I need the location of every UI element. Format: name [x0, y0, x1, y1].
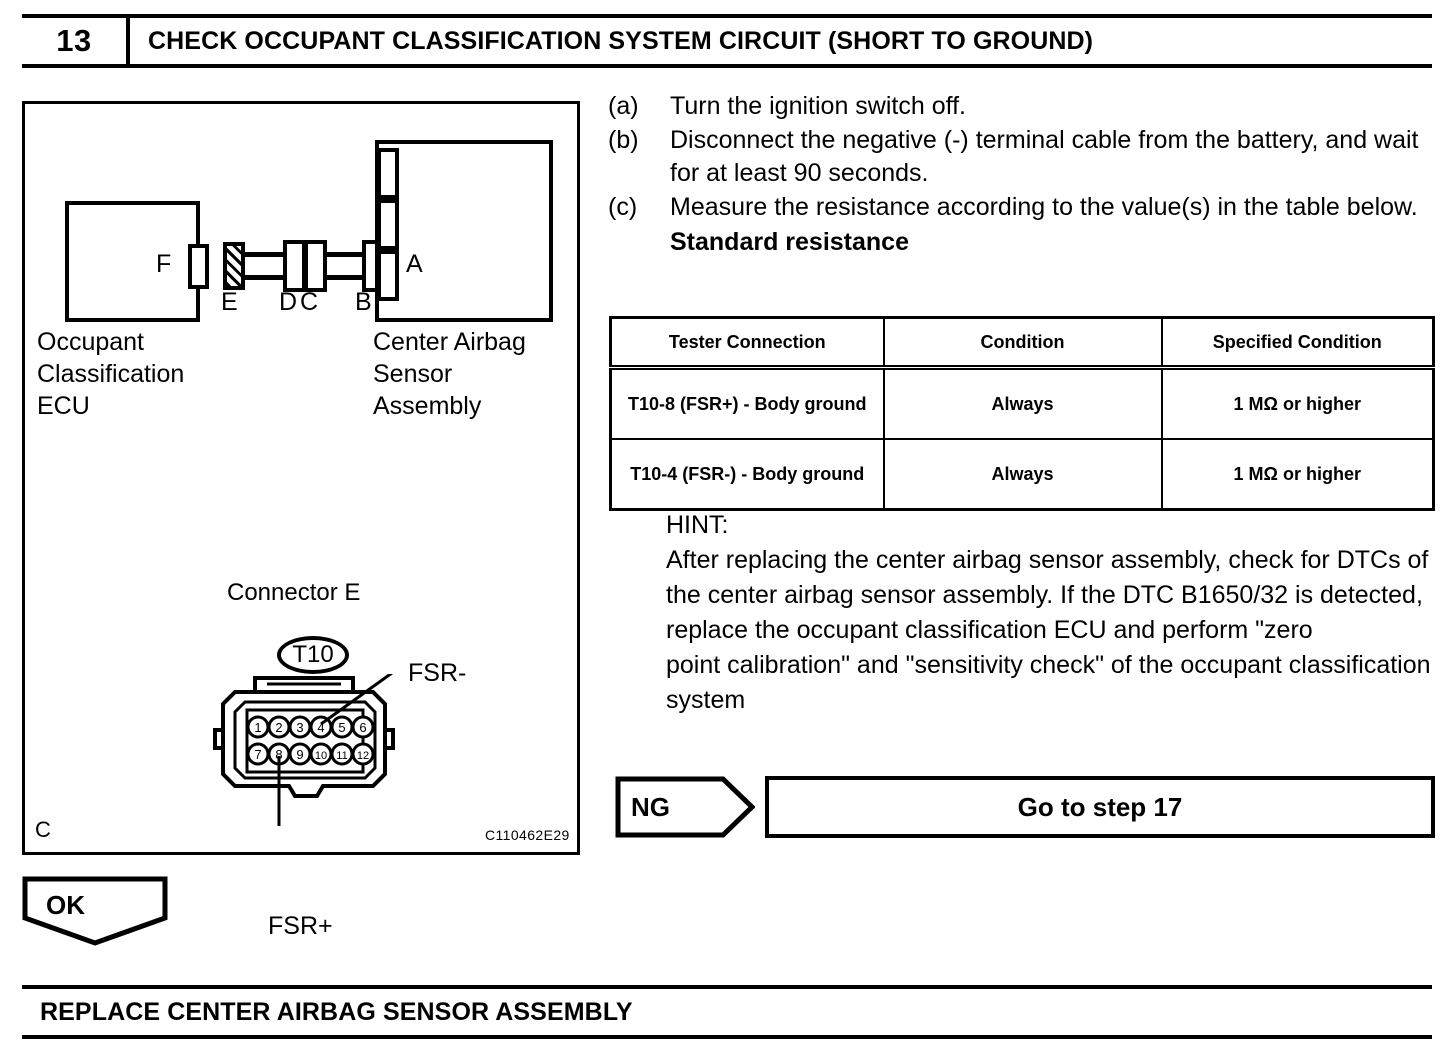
svg-text:10: 10 [315, 750, 327, 762]
pin-label-fsr-minus: FSR- [408, 659, 466, 688]
connector-e-pinout-illustration: 1 2 3 4 5 6 7 8 9 10 11 12 [195, 674, 445, 834]
svg-text:2: 2 [275, 720, 282, 735]
step-title: CHECK OCCUPANT CLASSIFICATION SYSTEM CIR… [130, 18, 1432, 64]
cell-tester-connection: T10-4 (FSR-) - Body ground [611, 439, 884, 510]
sensor-terminal-slot-1 [377, 148, 399, 199]
connector-e-title: Connector E [227, 579, 360, 607]
cell-condition: Always [884, 439, 1162, 510]
connector-e-label: E [221, 288, 238, 317]
instruction-text: Measure the resistance according to the … [670, 191, 1436, 224]
table-header-row: Tester Connection Condition Specified Co… [611, 318, 1434, 368]
column-header-specified-condition: Specified Condition [1162, 318, 1434, 368]
hint-label: HINT: [666, 508, 1436, 543]
svg-text:9: 9 [296, 747, 303, 762]
instruction-marker: (a) [608, 90, 670, 123]
svg-text:11: 11 [336, 750, 347, 762]
ng-result-row: NG Go to step 17 [615, 776, 1435, 838]
instruction-list: (a) Turn the ignition switch off. (b) Di… [608, 90, 1436, 259]
connector-c-symbol [304, 240, 327, 292]
cell-specified-condition: 1 MΩ or higher [1162, 368, 1434, 440]
hint-body: After replacing the center airbag sensor… [666, 543, 1436, 718]
ok-label: OK [46, 890, 85, 921]
svg-text:12: 12 [357, 750, 369, 762]
ecu-terminal-f [188, 244, 209, 289]
diagram-corner-letter: C [35, 817, 51, 843]
instruction-text: Turn the ignition switch off. [670, 90, 1436, 123]
ecu-caption: Occupant Classification ECU [37, 326, 184, 422]
cell-specified-condition: 1 MΩ or higher [1162, 439, 1434, 510]
svg-text:1: 1 [254, 720, 261, 735]
center-airbag-sensor-assembly-box [375, 140, 553, 322]
sensor-assembly-caption: Center Airbag Sensor Assembly [373, 326, 526, 422]
ok-arrow-shape [22, 876, 168, 946]
standard-resistance-table: Tester Connection Condition Specified Co… [609, 316, 1435, 511]
connector-e-symbol [223, 242, 245, 290]
connector-code-badge: T10 [277, 636, 349, 674]
column-header-condition: Condition [884, 318, 1162, 368]
instruction-item-b: (b) Disconnect the negative (-) terminal… [608, 124, 1436, 190]
instruction-item-a: (a) Turn the ignition switch off. [608, 90, 1436, 123]
hint-block: HINT: After replacing the center airbag … [666, 508, 1436, 718]
instruction-text: Disconnect the negative (-) terminal cab… [670, 124, 1436, 190]
connector-b-label: B [355, 288, 372, 317]
step-header-bar: 13 CHECK OCCUPANT CLASSIFICATION SYSTEM … [22, 14, 1432, 68]
cell-tester-connection: T10-8 (FSR+) - Body ground [611, 368, 884, 440]
svg-text:3: 3 [296, 720, 303, 735]
sensor-terminal-slot-3 [377, 250, 399, 301]
instruction-marker: (c) [608, 191, 670, 224]
result-action-bar: REPLACE CENTER AIRBAG SENSOR ASSEMBLY [22, 985, 1432, 1039]
pin-label-fsr-plus: FSR+ [268, 912, 333, 941]
column-header-tester-connection: Tester Connection [611, 318, 884, 368]
sensor-terminal-a-label: A [406, 250, 423, 279]
table-row: T10-4 (FSR-) - Body ground Always 1 MΩ o… [611, 439, 1434, 510]
svg-text:6: 6 [359, 720, 366, 735]
occupant-classification-ecu-box [65, 201, 200, 322]
standard-resistance-heading: Standard resistance [670, 226, 1436, 259]
wiring-diagram-panel: F Occupant Classification ECU E DC B A C… [22, 101, 580, 855]
svg-text:5: 5 [338, 720, 345, 735]
svg-text:7: 7 [254, 747, 261, 762]
step-number: 13 [22, 18, 126, 64]
figure-reference-code: C110462E29 [485, 827, 570, 843]
ng-action-box[interactable]: Go to step 17 [765, 776, 1435, 838]
connector-d-symbol [283, 240, 306, 292]
ecu-terminal-f-label: F [156, 250, 171, 279]
cell-condition: Always [884, 368, 1162, 440]
table-row: T10-8 (FSR+) - Body ground Always 1 MΩ o… [611, 368, 1434, 440]
connector-dc-label: DC [279, 288, 321, 317]
instruction-item-c: (c) Measure the resistance according to … [608, 191, 1436, 224]
wire-c-to-b [326, 252, 366, 280]
wire-e-to-d [245, 252, 287, 280]
ng-label: NG [615, 776, 755, 838]
instruction-marker: (b) [608, 124, 670, 190]
sensor-terminal-slot-2 [377, 199, 399, 250]
